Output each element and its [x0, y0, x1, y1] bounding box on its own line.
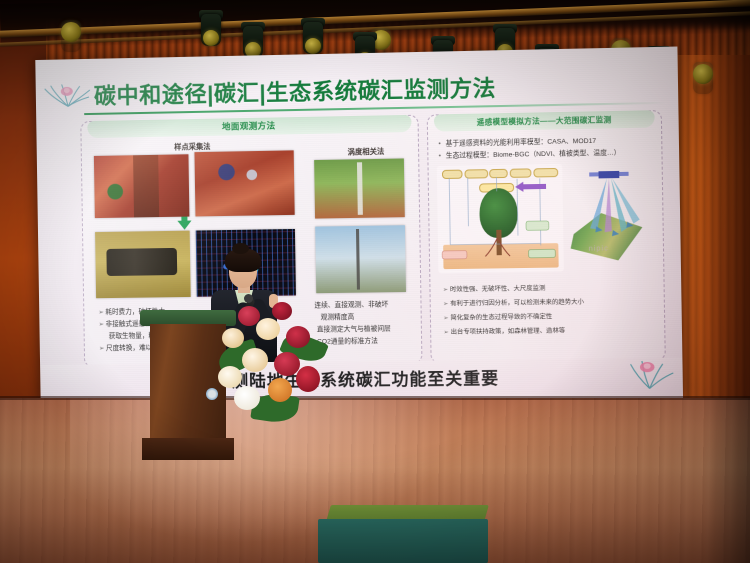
biome-bgc-ecosystem-model-diagram [437, 164, 564, 274]
model-connectors [437, 164, 564, 274]
led-presentation-screen: 碳中和途径|碳汇|生态系统碳汇监测方法 地面观测方法 样点采集法 涡度相关法 [35, 47, 683, 405]
flow-arrow-icon [177, 221, 191, 230]
remote-sensing-panel: 遥感模型模拟方法——大范围碳汇监测 •基于遥感资料的光能利用率模型：CASA、M… [427, 110, 666, 363]
page-title: 碳中和途径|碳汇|生态系统碳汇监测方法 [94, 71, 496, 111]
flower-white [234, 386, 260, 410]
flux-tower-mast-photo [315, 225, 406, 293]
image-watermark: nipic [589, 245, 609, 252]
soil-sampling-photo [194, 150, 294, 216]
stage-light-icon [240, 20, 266, 60]
bullet-rs-top-2: •生态过程模型：Biome-BGC（NDVI、植被类型、温度…） [439, 149, 621, 162]
stage-monitor-speaker [318, 505, 488, 563]
slide-title-row: 碳中和途径|碳汇|生态系统碳汇监测方法 [36, 65, 679, 114]
flower-cream [256, 318, 280, 340]
stage-light-icon [198, 8, 224, 48]
lotus-flower-ornament-icon [622, 354, 677, 391]
tree-measurement-photo [94, 154, 190, 218]
stage-floor-edge [0, 396, 750, 400]
stage-light-icon [300, 16, 326, 56]
satellite-beams [564, 164, 655, 267]
podium-base [142, 438, 234, 460]
auditorium-stage-scene: 碳中和途径|碳汇|生态系统碳汇监测方法 地面观测方法 样点采集法 涡度相关法 [0, 0, 750, 563]
flower-cream [242, 348, 268, 372]
lotus-grass-ornament-icon [42, 80, 95, 111]
sublabel-eddy: 涡度相关法 [320, 146, 412, 158]
bullet-rs-bottom-4: ➢出台专项扶持政策，如森林管理、造林等 [443, 326, 565, 338]
flux-tower-canopy-photo [314, 158, 405, 218]
flower-cream [222, 328, 244, 348]
slide-surface: 碳中和途径|碳汇|生态系统碳汇监测方法 地面观测方法 样点采集法 涡度相关法 [35, 47, 683, 405]
flower-red [272, 302, 292, 320]
bullet-rs-bottom-1: ➢时效性强、无破坏性、大尺度监测 [443, 284, 546, 296]
stage-light-icon [58, 14, 84, 54]
flower-red [286, 326, 310, 348]
slide-bottom-banner: 测陆地生态系统碳汇功能至关重要 [40, 358, 683, 399]
flower-red [274, 352, 300, 376]
panel-heading-ground: 地面观测方法 [87, 115, 411, 138]
flower-cream [218, 366, 242, 388]
right-edge-shadow [704, 0, 750, 563]
panel-heading-remote: 遥感模型模拟方法——大范围碳汇监测 [434, 110, 655, 131]
bullet-rs-bottom-2: ➢有利于进行归因分析，可以检测未来的趋势大小 [443, 298, 584, 310]
satellite-remote-sensing-diagram: nipic [564, 164, 655, 267]
flower-orange [268, 378, 292, 402]
uav-drone-photo [95, 231, 191, 299]
flower-red [296, 366, 320, 392]
flower-arrangement [212, 300, 338, 430]
bullet-rs-top-1: •基于遥感资料的光能利用率模型：CASA、MOD17 [438, 137, 596, 150]
bullet-rs-bottom-3: ➢简化复杂的生态过程导致的不确定性 [443, 312, 552, 324]
presenter-hair-bun [232, 243, 249, 254]
monitor-front-grille [318, 519, 488, 563]
